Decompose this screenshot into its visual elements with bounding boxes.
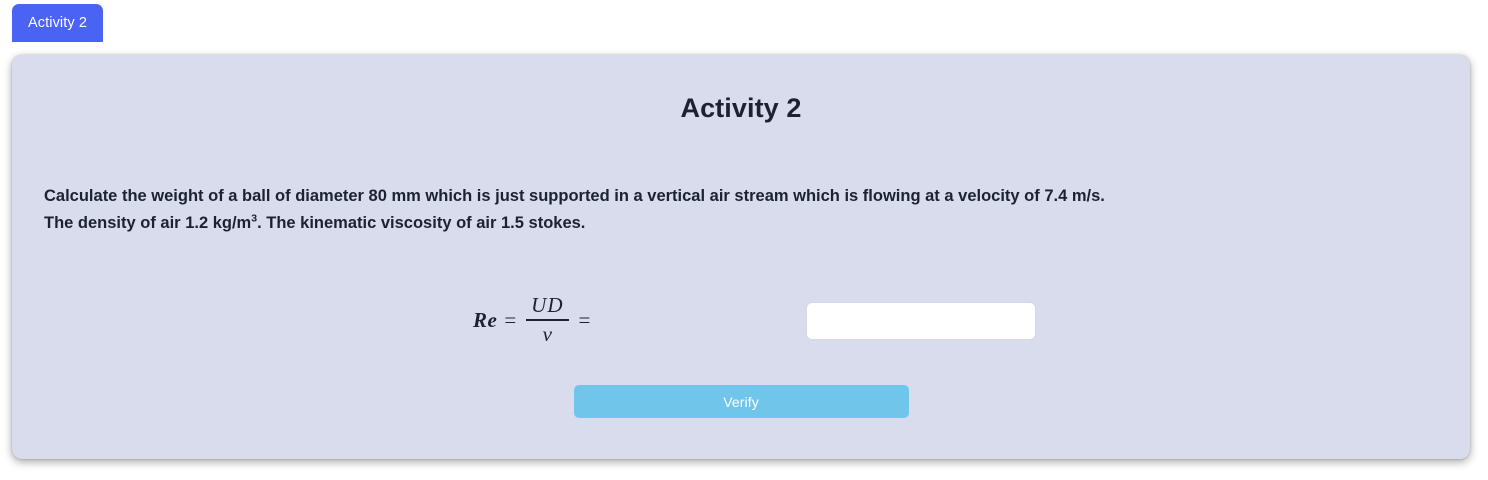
formula-equals-second: = bbox=[579, 308, 591, 333]
formula-numerator: UD bbox=[526, 293, 568, 319]
tab-bar: Activity 2 bbox=[0, 0, 1488, 46]
problem-statement-line-2-part-2: . The kinematic viscosity of air 1.5 sto… bbox=[257, 214, 585, 232]
activity-panel: Activity 2 Calculate the weight of a bal… bbox=[12, 55, 1470, 459]
answer-row: Re = UD ν = bbox=[12, 291, 1470, 351]
reynolds-number-formula: Re = UD ν = bbox=[447, 294, 697, 347]
problem-statement: Calculate the weight of a ball of diamet… bbox=[44, 183, 1434, 237]
formula-fraction: UD ν bbox=[526, 293, 568, 346]
verify-button[interactable]: Verify bbox=[574, 385, 909, 418]
verify-button-wrapper: Verify bbox=[12, 385, 1470, 418]
answer-input[interactable] bbox=[807, 303, 1035, 339]
problem-statement-line-2-part-1: The density of air 1.2 kg/m bbox=[44, 214, 251, 232]
tab-activity-2[interactable]: Activity 2 bbox=[12, 4, 103, 42]
verify-button-label: Verify bbox=[723, 394, 759, 410]
formula-symbol-re: Re bbox=[473, 308, 497, 333]
problem-statement-line-1: Calculate the weight of a ball of diamet… bbox=[44, 187, 1105, 205]
formula-equals-first: = bbox=[504, 308, 516, 333]
page-title: Activity 2 bbox=[12, 93, 1470, 124]
formula-denominator: ν bbox=[538, 321, 557, 347]
tab-label: Activity 2 bbox=[28, 16, 87, 31]
